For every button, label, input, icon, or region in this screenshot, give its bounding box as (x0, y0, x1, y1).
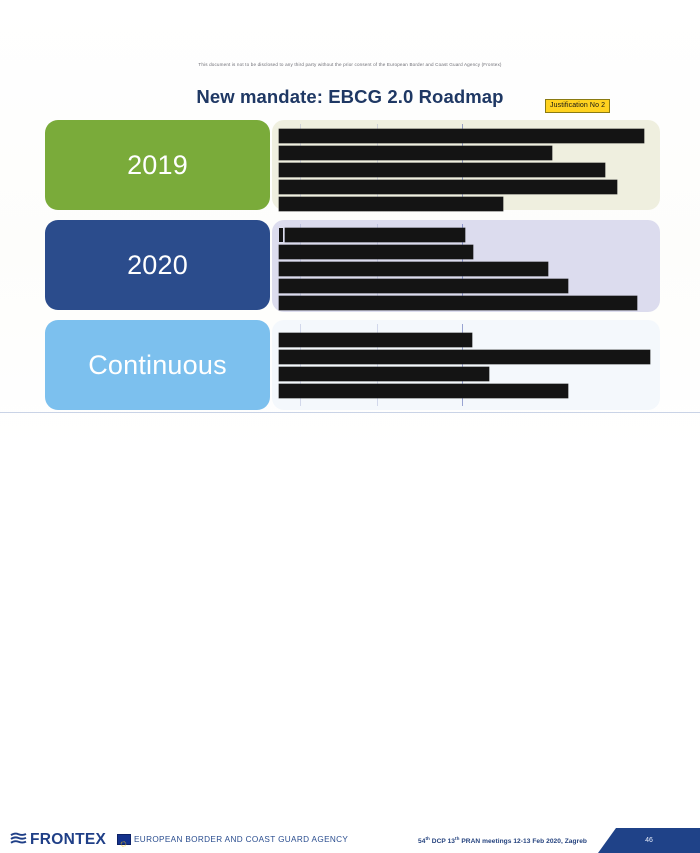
meeting-info: 54th DCP 13th PRAN meetings 12-13 Feb 20… (418, 836, 587, 845)
roadmap-row-label: 2019 (45, 120, 270, 210)
redaction-bar (279, 350, 650, 364)
roadmap-row-panel (272, 220, 660, 312)
roadmap-row-label: 2020 (45, 220, 270, 310)
redaction-bar (279, 129, 644, 143)
redaction-bar (279, 163, 605, 177)
redaction-bar (279, 245, 473, 259)
redaction-bar (279, 197, 503, 211)
redaction-bar (279, 367, 489, 381)
roadmap-row-label: Continuous (45, 320, 270, 410)
roadmap-row-panel (272, 120, 660, 210)
redaction-bar (279, 279, 568, 293)
footer: FRONTEX EUROPEAN BORDER AND COAST GUARD … (0, 413, 700, 453)
frontex-logo: FRONTEX (10, 832, 106, 847)
justification-badge: Justification No 2 (545, 99, 610, 113)
meeting-suffix: PRAN meetings 12-13 Feb 2020, Zagreb (459, 838, 587, 845)
slide-canvas: This document is not to be disclosed to … (0, 0, 700, 496)
roadmap-row-panel (272, 320, 660, 410)
redaction-bar (279, 333, 472, 347)
meeting-mid: DCP 13 (430, 838, 455, 845)
frontex-wave-icon (10, 832, 27, 847)
confidentiality-disclaimer: This document is not to be disclosed to … (0, 62, 700, 67)
redaction-bar-segment (279, 228, 283, 242)
redaction-bar (279, 146, 552, 160)
redaction-bar (279, 384, 568, 398)
frontex-wordmark: FRONTEX (30, 832, 106, 847)
page-number-badge: 46 (598, 828, 700, 853)
eu-flag-icon (117, 834, 131, 845)
redaction-bar (285, 228, 465, 242)
redaction-bar (279, 180, 617, 194)
agency-name: EUROPEAN BORDER AND COAST GUARD AGENCY (134, 835, 348, 844)
redaction-bar (279, 262, 548, 276)
redaction-bar (279, 296, 637, 310)
meeting-prefix: 54 (418, 838, 425, 845)
